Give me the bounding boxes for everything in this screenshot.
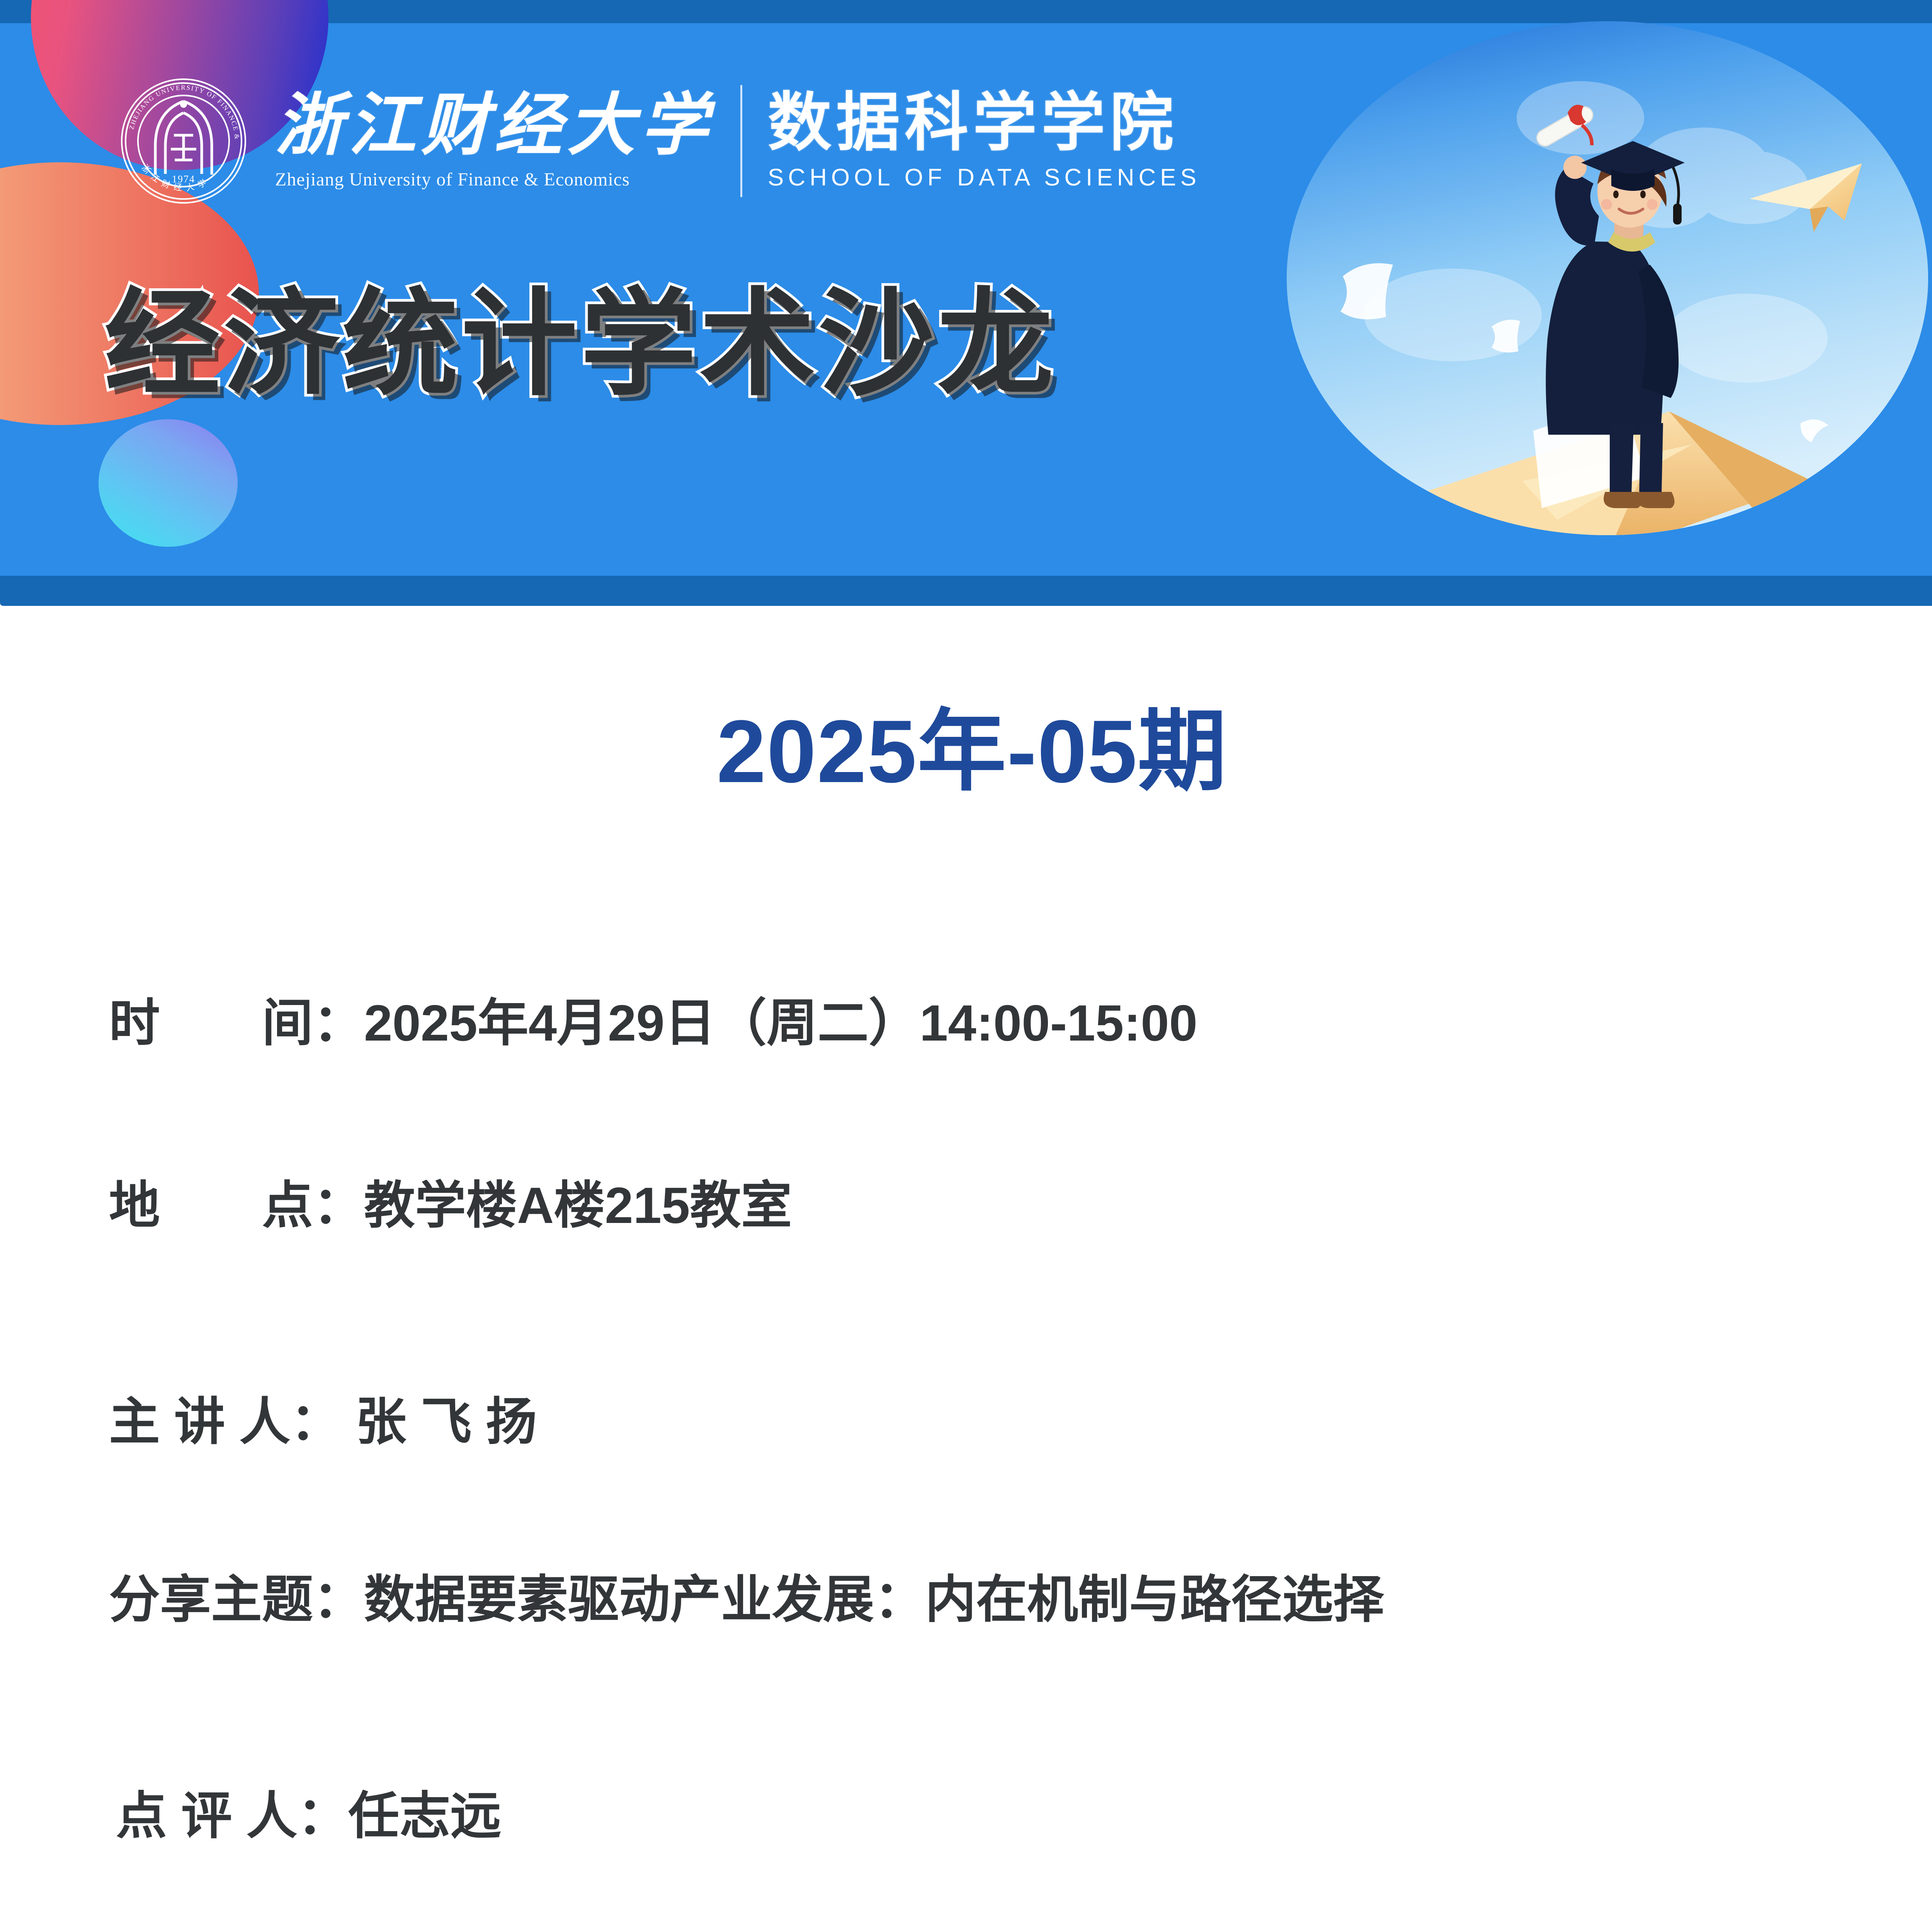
university-name-cn: 浙江财经大学: [275, 92, 713, 160]
logo-lockup: 1974 ZHEJIANG UNIVERSITY OF FINANCE & EC…: [120, 68, 1201, 214]
info-value-critic: 任志远: [348, 1787, 501, 1844]
school-name-block: 数据科学学院 SCHOOL OF DATA SCIENCES: [768, 77, 1201, 205]
university-seal-icon: 1974 ZHEJIANG UNIVERSITY OF FINANCE & EC…: [120, 77, 247, 205]
logo-divider: [740, 85, 742, 197]
header-band: 1974 ZHEJIANG UNIVERSITY OF FINANCE & EC…: [0, 0, 1932, 606]
issue-title: 2025年-05期: [0, 707, 1932, 796]
info-label-time: 时 间：: [109, 995, 364, 1051]
info-label-topic: 分享主题：: [109, 1571, 364, 1628]
svg-text:ZHEJIANG UNIVERSITY OF FINANCE: ZHEJIANG UNIVERSITY OF FINANCE & ECONOMI…: [120, 77, 241, 140]
info-label-critic: 点 评 人：: [116, 1787, 348, 1844]
info-value-time: 2025年4月29日（周二）14:00-15:00: [364, 995, 1197, 1051]
info-value-speaker: 张 飞 扬: [341, 1393, 537, 1450]
info-row-critic: 点 评 人：任志远: [116, 1788, 501, 1844]
school-name-en: SCHOOL OF DATA SCIENCES: [768, 164, 1201, 191]
header-bottom-strip: [0, 576, 1932, 606]
university-name-en: Zhejiang University of Finance & Economi…: [275, 169, 713, 190]
info-label-place: 地 点：: [109, 1177, 364, 1234]
info-row-speaker: 主 讲 人： 张 飞 扬: [109, 1394, 537, 1450]
header-top-strip: [0, 0, 1932, 23]
info-value-place: 教学楼A楼215教室: [364, 1177, 792, 1234]
poster-root: 1974 ZHEJIANG UNIVERSITY OF FINANCE & EC…: [0, 0, 1932, 1932]
university-name-block: 浙江财经大学 Zhejiang University of Finance & …: [275, 77, 713, 205]
graduate-on-paper-plane-illustration: [1287, 21, 1928, 535]
school-name-cn: 数据科学学院: [768, 91, 1201, 155]
info-row-place: 地 点：教学楼A楼215教室: [109, 1177, 792, 1233]
info-row-time: 时 间：2025年4月29日（周二）14:00-15:00: [109, 995, 1197, 1051]
info-row-topic: 分享主题：数据要素驱动产业发展：内在机制与路径选择: [109, 1571, 1384, 1628]
salon-title: 经济统计学术沙龙: [104, 286, 1056, 402]
info-label-speaker: 主 讲 人：: [109, 1393, 341, 1450]
info-value-topic: 数据要素驱动产业发展：内在机制与路径选择: [364, 1571, 1384, 1628]
